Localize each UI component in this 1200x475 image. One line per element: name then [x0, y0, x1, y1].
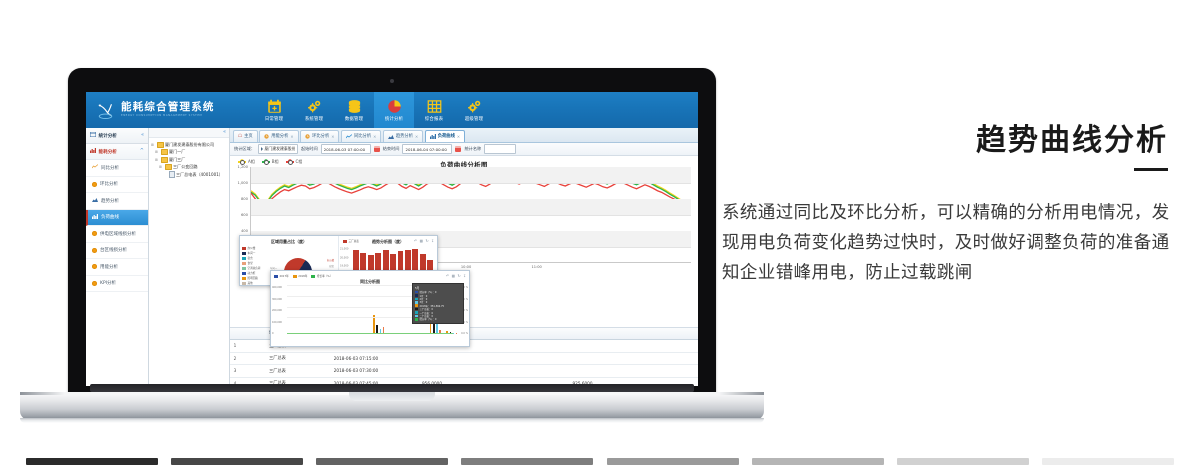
close-icon[interactable]: ✕ — [331, 134, 334, 139]
dot-icon — [92, 248, 97, 253]
close-icon[interactable]: ✕ — [457, 134, 460, 139]
sidebar-item-7[interactable]: 用能分析 — [86, 259, 148, 276]
sidebar-item-label: KPI分析 — [100, 280, 116, 286]
pie-callout-right: 办公楼 — [327, 258, 334, 262]
pie-chart-title: 区域用量占比（度） — [240, 236, 338, 245]
document-icon — [169, 171, 175, 178]
close-icon[interactable]: ✕ — [290, 134, 293, 139]
compare-legend-item-2[interactable]: 2018年 — [293, 274, 308, 278]
page-title: 趋势曲线分析 — [718, 115, 1168, 159]
sidebar-spacer — [86, 292, 148, 386]
title-rule — [1134, 168, 1168, 171]
nav-item-2[interactable]: 系统管理 — [294, 92, 334, 128]
tooltip-swatch — [415, 298, 418, 301]
chart-tooltip: 5月 增长率（%）：01月：02月：03月：02018年：351,562.75三… — [412, 283, 464, 324]
x-tick-label: 11:00 — [531, 265, 541, 269]
gears-icon — [467, 99, 482, 115]
expand-toggle-icon[interactable]: ⊞ — [159, 165, 163, 169]
database-icon — [347, 99, 362, 115]
bottom-gradient-strip — [0, 458, 1200, 465]
filter-end-label: 结束时间 — [383, 146, 400, 152]
tree-node-3[interactable]: ⊞厦门三厂 — [151, 156, 227, 164]
laptop-screen: 能耗综合管理系统 ENERGY CONSUMPTION MANAGEMENT S… — [86, 92, 698, 386]
pie-legend-item-5[interactable]: 空调总负荷 — [242, 266, 260, 270]
filter-name-label: 统计名称 — [464, 146, 481, 152]
tree-node-label: 三厂公变回路 — [173, 164, 198, 170]
nav-item-label: 统计分析 — [385, 116, 403, 122]
sidebar-item-8[interactable]: KPI分析 — [86, 276, 148, 293]
start-time-input[interactable]: 2018-06-03 07:00:00 — [321, 144, 371, 154]
tree-node-5[interactable]: 三厂总电表（4001001） — [151, 171, 227, 179]
chevron-left-icon[interactable]: « — [223, 130, 226, 135]
legend-swatch — [242, 272, 246, 275]
filter-area-label: 统计区域： — [234, 146, 255, 152]
cell-index: 3 — [230, 368, 240, 373]
legend-swatch — [242, 277, 246, 280]
compare-legend-item-3[interactable]: 增长率（%） — [311, 274, 332, 278]
bar-toggle-icon[interactable]: ▩ — [452, 274, 455, 278]
trend-y-tick: 19,000 — [340, 265, 348, 268]
tab-2[interactable]: 用能分析✕ — [259, 130, 298, 143]
trend-icon — [92, 197, 98, 204]
line-chart-icon — [92, 164, 98, 171]
sidebar-header[interactable]: 统计分析 « — [86, 128, 148, 144]
pie-legend-item-2[interactable]: 车间一 — [242, 251, 260, 255]
legend-swatch — [242, 267, 246, 270]
bar-chart-icon — [90, 148, 96, 155]
legend-swatch — [343, 240, 347, 243]
tab-4[interactable]: 同比分析✕ — [341, 130, 381, 143]
cell-customer: 三厂总表 — [240, 355, 315, 361]
compare-bar[interactable] — [456, 333, 458, 334]
legend-swatch — [242, 282, 246, 285]
cell-time: 2018-06-03 07:30:00 — [315, 368, 397, 373]
tab-label: 用能分析 — [271, 133, 288, 139]
tooltip-swatch — [415, 291, 418, 294]
grid-band — [251, 199, 691, 215]
brand-text: 能耗综合管理系统 ENERGY CONSUMPTION MANAGEMENT S… — [121, 102, 215, 118]
nav-item-label: 超级管理 — [465, 116, 483, 122]
area-select[interactable]: 厦门建发建泰股份 — [258, 144, 298, 154]
sidebar-item-label: 用能分析 — [100, 264, 118, 270]
tab-label: 趋势分析 — [396, 133, 413, 139]
gears-icon — [307, 99, 322, 115]
tooltip-rows: 增长率（%）：01月：02月：03月：02018年：351,562.75三厂总表… — [415, 291, 461, 322]
tooltip-swatch — [415, 311, 418, 314]
grid-band — [251, 167, 691, 183]
compare-y-tick: 100,000 — [272, 321, 282, 324]
cell-index: 1 — [230, 343, 240, 348]
pie-legend-label: 车间一 — [248, 251, 256, 255]
gridline — [251, 215, 691, 216]
home-icon: ☖ — [238, 134, 242, 139]
close-icon[interactable]: ✕ — [415, 134, 418, 139]
legend-swatch — [293, 275, 297, 278]
download-icon[interactable]: ↧ — [431, 239, 434, 243]
tree-node-4[interactable]: ⊞三厂公变回路 — [151, 164, 227, 172]
cell-index: 2 — [230, 356, 240, 361]
sidebar-item-1[interactable]: 同比分析 — [86, 160, 148, 177]
sidebar-title: 统计分析 — [99, 133, 117, 139]
restore-icon[interactable]: ↶ — [446, 274, 449, 278]
strip-segment-7 — [897, 458, 1029, 465]
pie-legend-label: 其他 — [248, 281, 253, 285]
org-tree: ⊞厦门建发建泰股份有限公司⊞厦门一厂⊞厦门三厂⊞三厂公变回路三厂总电表（4001… — [149, 138, 229, 386]
floating-panel-compare[interactable]: 2017年2018年增长率（%） ↶ ▩ ↻ ↧ 同比分析图 400,00030… — [270, 270, 470, 347]
pie-legend-label: 动力柜 — [248, 271, 256, 275]
expand-toggle-icon[interactable]: ⊞ — [155, 158, 159, 162]
tree-node-label: 厦门三厂 — [169, 157, 185, 163]
compare-legend-label: 增长率（%） — [317, 274, 332, 278]
nav-item-label: 数据管理 — [345, 116, 363, 122]
nav-item-label: 日常管理 — [265, 116, 283, 122]
tooltip-swatch — [415, 318, 418, 321]
refresh-icon[interactable]: ↻ — [425, 239, 428, 243]
chart-toolbar[interactable]: ↶ ▩ ↻ ↧ — [414, 239, 434, 243]
expand-toggle-icon[interactable]: ⊞ — [151, 143, 155, 147]
laptop-mockup: 能耗综合管理系统 ENERGY CONSUMPTION MANAGEMENT S… — [68, 68, 716, 398]
restore-icon[interactable]: ↶ — [414, 239, 417, 243]
nav-item-1[interactable]: 日常管理 — [254, 92, 294, 128]
nav-item-3[interactable]: 数据管理 — [334, 92, 374, 128]
dot-icon — [92, 264, 97, 269]
y-tick-label: 800 — [241, 197, 248, 201]
calendar-icon[interactable] — [374, 146, 380, 152]
sidebar-item-5[interactable]: 供电区域线损分析 — [86, 226, 148, 243]
main-nav: 日常管理系统管理数据管理统计分析综合报表超级管理 — [254, 92, 494, 128]
nav-item-5[interactable]: 综合报表 — [414, 92, 454, 128]
strip-segment-6 — [752, 458, 884, 465]
pie-callout-right2: 宿舍 — [329, 264, 334, 268]
tree-node-label: 厦门一厂 — [169, 149, 185, 155]
legend-swatch — [274, 275, 278, 278]
compare-y-tick: 300,000 — [272, 298, 282, 301]
laptop-hinge — [90, 384, 694, 392]
tab-bar: ☖主页用能分析✕环比分析✕同比分析✕趋势分析✕负荷曲线✕ — [230, 128, 698, 143]
strip-segment-2 — [171, 458, 303, 465]
stat-name-input[interactable] — [484, 144, 516, 154]
calendar-icon[interactable] — [455, 146, 461, 152]
strip-segment-3 — [316, 458, 448, 465]
compare-y-tick: 200,000 — [272, 309, 282, 312]
nav-item-label: 系统管理 — [305, 116, 323, 122]
tab-label: 主页 — [244, 133, 253, 139]
sidebar-item-label: 环比分析 — [100, 181, 118, 187]
cell-time: 2018-06-03 07:15:00 — [315, 356, 397, 361]
tab-3[interactable]: 环比分析✕ — [300, 130, 339, 143]
laptop-base-edge — [20, 418, 764, 423]
y-tick-label: 1,000 — [237, 181, 248, 185]
tree-toolbar: « — [149, 128, 229, 138]
tooltip-swatch — [415, 301, 418, 304]
sidebar-item-label: 负荷曲线 — [101, 214, 119, 220]
window-icon — [90, 132, 96, 139]
tooltip-swatch — [415, 304, 418, 307]
pie-legend-item-8[interactable]: 其他 — [242, 281, 260, 285]
sidebar-group-energy[interactable]: 能耗分析 ^ — [86, 144, 148, 160]
pie-legend-label: 食堂 — [248, 261, 253, 265]
swan-logo-icon — [95, 100, 116, 121]
tab-5[interactable]: 趋势分析✕ — [383, 130, 423, 143]
compare-legend-label: 2017年 — [280, 274, 289, 278]
sidebar-group-label: 能耗分析 — [99, 149, 117, 155]
expand-toggle-icon[interactable]: ⊞ — [155, 150, 159, 154]
folder-icon — [165, 164, 172, 170]
chevron-left-icon[interactable]: « — [141, 133, 144, 138]
pie-legend-item-6[interactable]: 动力柜 — [242, 271, 260, 275]
pie-legend: 办公楼车间一宿舍食堂空调总负荷动力柜照明回路其他 — [242, 246, 260, 285]
tree-node-2[interactable]: ⊞厦门一厂 — [151, 149, 227, 157]
trend-legend: 三厂总表 — [343, 239, 359, 243]
calendar-plus-icon — [267, 99, 282, 115]
trend-y-tick: 21,000 — [340, 248, 348, 251]
pie-legend-item-1[interactable]: 办公楼 — [242, 246, 260, 250]
tree-node-label: 三厂总电表（4001001） — [176, 172, 223, 178]
refresh-icon[interactable]: ↻ — [457, 274, 460, 278]
legend-swatch — [311, 275, 315, 278]
chevron-up-icon[interactable]: ^ — [140, 149, 144, 154]
tooltip-row-9: 增长率（%）：0 — [415, 318, 461, 321]
nav-item-6[interactable]: 超级管理 — [454, 92, 494, 128]
tree-node-label: 厦门建发建泰股份有限公司 — [165, 142, 214, 148]
compare-legend-item-1[interactable]: 2017年 — [274, 274, 289, 278]
tooltip-label: 增长率（%）：0 — [420, 317, 437, 321]
laptop-lid: 能耗综合管理系统 ENERGY CONSUMPTION MANAGEMENT S… — [68, 68, 716, 398]
caret-down-icon — [261, 147, 263, 151]
legend-swatch — [242, 252, 246, 255]
sidebar: 统计分析 « 能耗分析 ^ — [86, 128, 149, 386]
brand-title-cn: 能耗综合管理系统 — [121, 102, 215, 113]
sidebar-item-label: 趋势分析 — [101, 198, 119, 204]
compare-toolbar[interactable]: ↶ ▩ ↻ ↧ — [446, 274, 466, 278]
table-row[interactable]: 3三厂总表2018-06-03 07:30:00 — [230, 365, 698, 378]
tab-6[interactable]: 负荷曲线✕ — [425, 130, 465, 143]
tab-1[interactable]: ☖主页 — [233, 130, 258, 143]
filter-bar: 统计区域： 厦门建发建泰股份 起始时间 2018-06-03 07:00:00 … — [230, 143, 698, 156]
sidebar-item-4[interactable]: 负荷曲线 — [86, 210, 148, 227]
right-text-block: 趋势曲线分析 系统通过同比及环比分析，可以精确的分析用电情况，发现用电负荷变化趋… — [718, 0, 1188, 475]
pie-legend-item-4[interactable]: 食堂 — [242, 261, 260, 265]
tab-label: 同比分析 — [354, 133, 371, 139]
legend-swatch — [242, 262, 246, 265]
end-time-value: 2018-06-04 07:00:00 — [405, 147, 446, 152]
tooltip-title: 5月 — [415, 286, 461, 290]
pie-legend-label: 宿舍 — [248, 256, 253, 260]
app-header: 能耗综合管理系统 ENERGY CONSUMPTION MANAGEMENT S… — [86, 92, 698, 128]
sidebar-menu: 同比分析环比分析趋势分析负荷曲线供电区域线损分析台区线损分析用能分析KPI分析 — [86, 160, 148, 292]
gridline — [251, 183, 691, 184]
trend-legend-label: 三厂总表 — [349, 239, 359, 243]
compare-legend-label: 2018年 — [298, 274, 307, 278]
legend-swatch — [242, 257, 246, 260]
close-icon[interactable]: ✕ — [373, 134, 376, 139]
folder-icon — [161, 157, 168, 163]
nav-item-label: 综合报表 — [425, 116, 443, 122]
y-tick-label: 600 — [241, 213, 248, 217]
table-row[interactable]: 2三厂总表2018-06-03 07:15:00 — [230, 353, 698, 366]
filter-start-label: 起始时间 — [301, 146, 318, 152]
tree-node-1[interactable]: ⊞厦门建发建泰股份有限公司 — [151, 141, 227, 149]
bar-toggle-icon[interactable]: ▩ — [420, 239, 423, 243]
org-tree-panel: « ⊞厦门建发建泰股份有限公司⊞厦门一厂⊞厦门三厂⊞三厂公变回路三厂总电表（40… — [149, 128, 230, 386]
grid-table-icon — [427, 99, 442, 115]
tooltip-swatch — [415, 294, 418, 297]
y-tick-label: 400 — [241, 229, 248, 233]
end-time-input[interactable]: 2018-06-04 07:00:00 — [402, 144, 452, 154]
laptop-notch — [349, 392, 435, 401]
laptop-base — [20, 392, 764, 420]
dot-icon — [92, 182, 97, 187]
download-icon[interactable]: ↧ — [463, 274, 466, 278]
cell-customer: 三厂总表 — [240, 368, 315, 374]
sidebar-item-3[interactable]: 趋势分析 — [86, 193, 148, 210]
tab-label: 环比分析 — [312, 133, 329, 139]
area-select-value: 厦门建发建泰股份 — [264, 146, 295, 152]
dot-icon — [92, 231, 97, 236]
folder-icon — [157, 142, 164, 148]
brand-title-en: ENERGY CONSUMPTION MANAGEMENT SYSTEM — [121, 115, 215, 118]
tooltip-swatch — [415, 308, 418, 311]
compare-legend: 2017年2018年增长率（%） — [274, 274, 332, 278]
sidebar-item-2[interactable]: 环比分析 — [86, 177, 148, 194]
strip-segment-5 — [607, 458, 739, 465]
pie-legend-label: 照明回路 — [248, 276, 258, 280]
compare-y-tick: 400,000 — [272, 286, 282, 289]
legend-swatch — [242, 247, 246, 250]
sidebar-item-label: 供电区域线损分析 — [100, 231, 136, 237]
pie-legend-item-7[interactable]: 照明回路 — [242, 276, 260, 280]
bar-chart-icon — [92, 214, 98, 221]
dot-icon — [92, 281, 97, 286]
start-time-value: 2018-06-03 07:00:00 — [324, 147, 365, 152]
compare-y2-tick: 0.0 % — [461, 332, 468, 335]
pie-chart-icon — [387, 99, 402, 115]
page-description: 系统通过同比及环比分析，可以精确的分析用电情况，发现用电负荷变化趋势过快时，及时… — [722, 198, 1174, 288]
application-window: 能耗综合管理系统 ENERGY CONSUMPTION MANAGEMENT S… — [86, 92, 698, 386]
nav-item-4[interactable]: 统计分析 — [374, 92, 414, 128]
sidebar-item-label: 台区线损分析 — [100, 247, 127, 253]
y-tick-label: 1,200 — [237, 165, 248, 169]
sidebar-item-6[interactable]: 台区线损分析 — [86, 243, 148, 260]
pie-legend-label: 办公楼 — [248, 246, 256, 250]
webcam-icon — [390, 79, 394, 83]
sidebar-item-label: 同比分析 — [101, 165, 119, 171]
tooltip-swatch — [415, 315, 418, 318]
tab-label: 负荷曲线 — [438, 133, 455, 139]
folder-icon — [161, 149, 168, 155]
pie-legend-item-3[interactable]: 宿舍 — [242, 256, 260, 260]
strip-segment-1 — [26, 458, 158, 465]
compare-y-tick: 0 — [272, 332, 274, 335]
brand-logo: 能耗综合管理系统 ENERGY CONSUMPTION MANAGEMENT S… — [86, 100, 254, 121]
strip-segment-8 — [1042, 458, 1174, 465]
x-tick-label: 10:00 — [461, 265, 471, 269]
strip-segment-4 — [461, 458, 593, 465]
trend-y-tick: 20,000 — [340, 256, 348, 259]
compare-baseline — [287, 333, 453, 334]
pie-legend-label: 空调总负荷 — [248, 266, 261, 270]
